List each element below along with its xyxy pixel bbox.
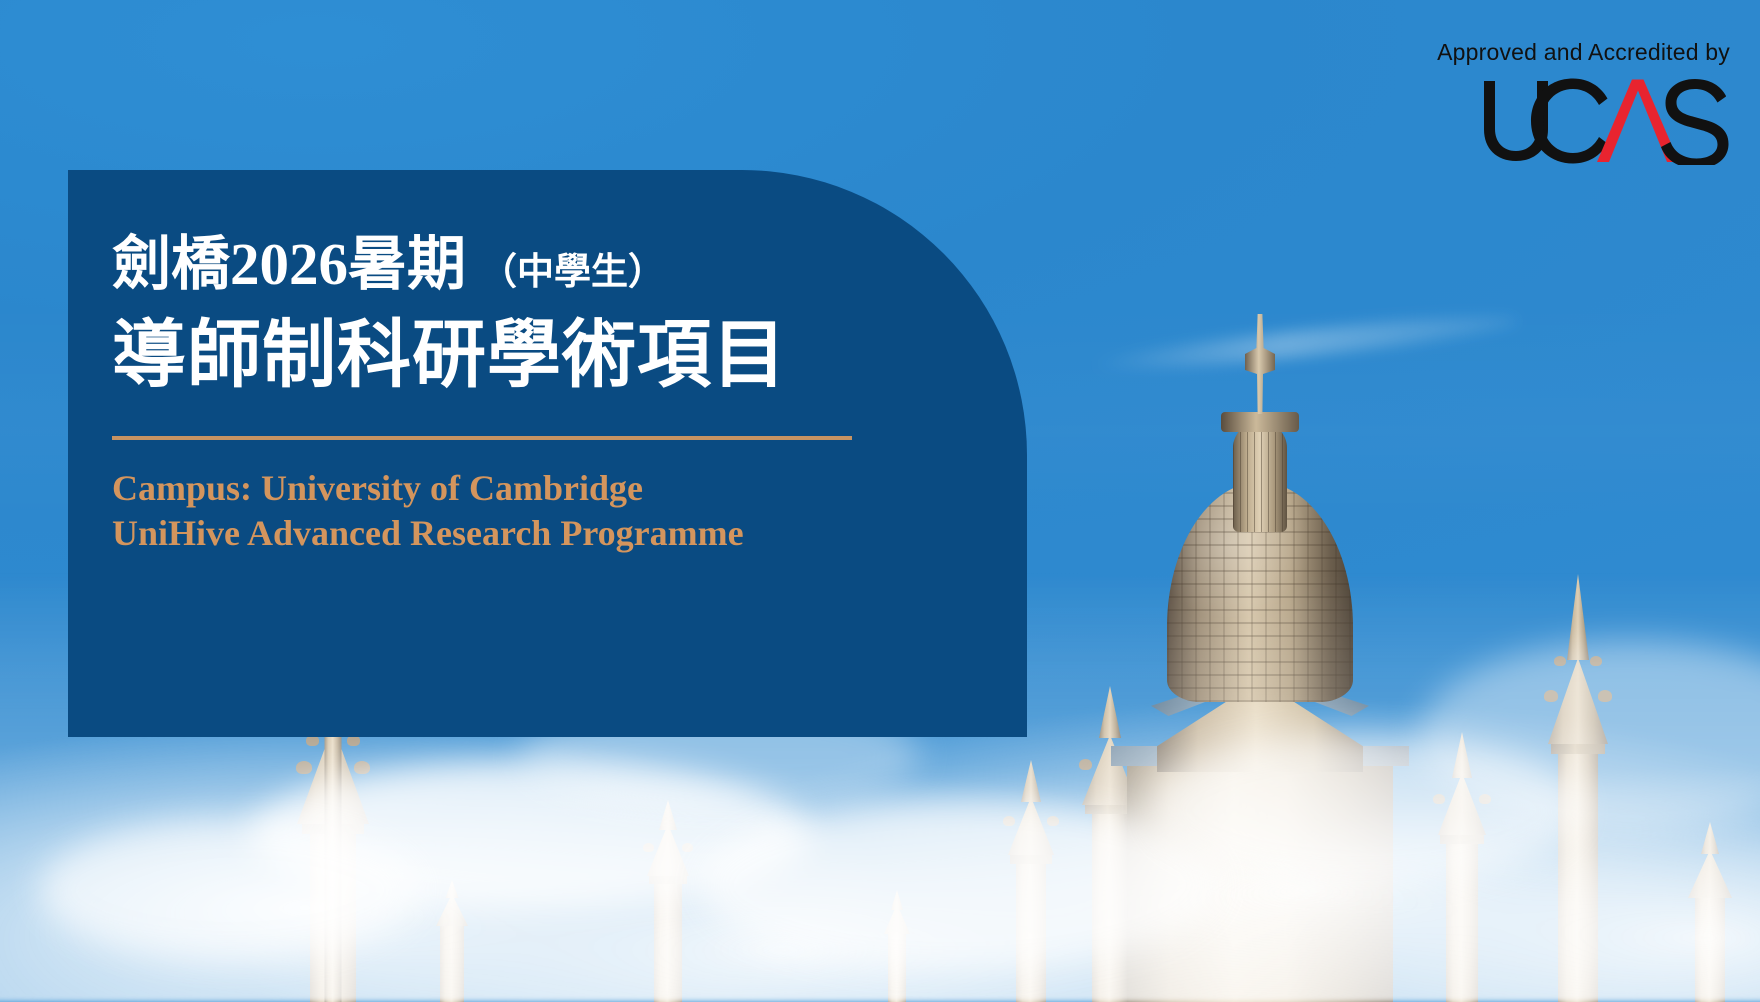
title-panel: 劍橋2026暑期 （中學生） 導師制科研學術項目 Campus: Univers… bbox=[68, 170, 1027, 737]
accreditation-block: Approved and Accredited by bbox=[1437, 40, 1730, 165]
ucas-letter-c bbox=[1531, 79, 1608, 164]
accreditation-caption: Approved and Accredited by bbox=[1437, 40, 1730, 65]
headline-audience-note: （中學生） bbox=[480, 253, 665, 294]
ucas-letter-s bbox=[1661, 79, 1729, 165]
headline-line-2: 導師制科研學術項目 bbox=[112, 315, 987, 398]
headline-line-1: 劍橋2026暑期 （中學生） bbox=[112, 232, 987, 297]
ucas-logo bbox=[1480, 77, 1730, 165]
neck-ribs bbox=[1233, 422, 1287, 532]
gold-divider bbox=[112, 436, 852, 440]
promotional-banner: 劍橋2026暑期 （中學生） 導師制科研學術項目 Campus: Univers… bbox=[0, 0, 1760, 1002]
cloud-wisp bbox=[40, 820, 420, 960]
subtitle-campus: Campus: University of Cambridge bbox=[112, 466, 987, 512]
subtitle-programme: UniHive Advanced Research Programme bbox=[112, 511, 987, 557]
tower-finial-cross bbox=[1245, 314, 1275, 414]
tower-collar bbox=[1221, 412, 1299, 432]
headline-main-text: 劍橋2026暑期 bbox=[112, 232, 466, 297]
cloud-wisp bbox=[700, 800, 1220, 970]
subtitle-block: Campus: University of Cambridge UniHive … bbox=[112, 466, 987, 557]
tower-neck bbox=[1233, 422, 1287, 532]
title-panel-content: 劍橋2026暑期 （中學生） 導師制科研學術項目 Campus: Univers… bbox=[112, 232, 987, 557]
